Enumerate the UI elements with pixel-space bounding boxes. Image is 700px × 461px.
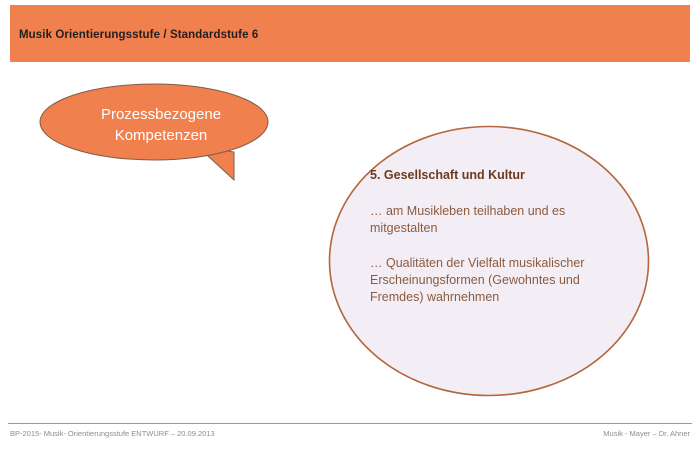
callout-bubble: Prozessbezogene Kompetenzen: [38, 80, 283, 188]
content-oval: 5. Gesellschaft und Kultur … am Musikleb…: [328, 125, 650, 397]
callout-line-2: Kompetenzen: [56, 125, 266, 146]
content-oval-paragraph-1: … am Musikleben teilhaben und es mitgest…: [370, 203, 608, 237]
callout-bubble-text: Prozessbezogene Kompetenzen: [56, 104, 266, 146]
content-oval-paragraph-2: … Qualitäten der Vielfalt musikalischer …: [370, 255, 608, 306]
footer-source-text: BP-2015- Musik- Orientierungsstufe ENTWU…: [10, 429, 215, 438]
content-oval-body: 5. Gesellschaft und Kultur … am Musikleb…: [370, 167, 608, 306]
footer-divider: [8, 423, 692, 424]
footer-author-text: Musik - Mayer – Dr. Ahner: [603, 429, 690, 438]
content-oval-heading: 5. Gesellschaft und Kultur: [370, 167, 608, 183]
slide-canvas: Musik Orientierungsstufe / Standardstufe…: [0, 0, 700, 461]
page-title: Musik Orientierungsstufe / Standardstufe…: [19, 29, 258, 41]
callout-line-1: Prozessbezogene: [56, 104, 266, 125]
header-banner: Musik Orientierungsstufe / Standardstufe…: [10, 5, 690, 62]
